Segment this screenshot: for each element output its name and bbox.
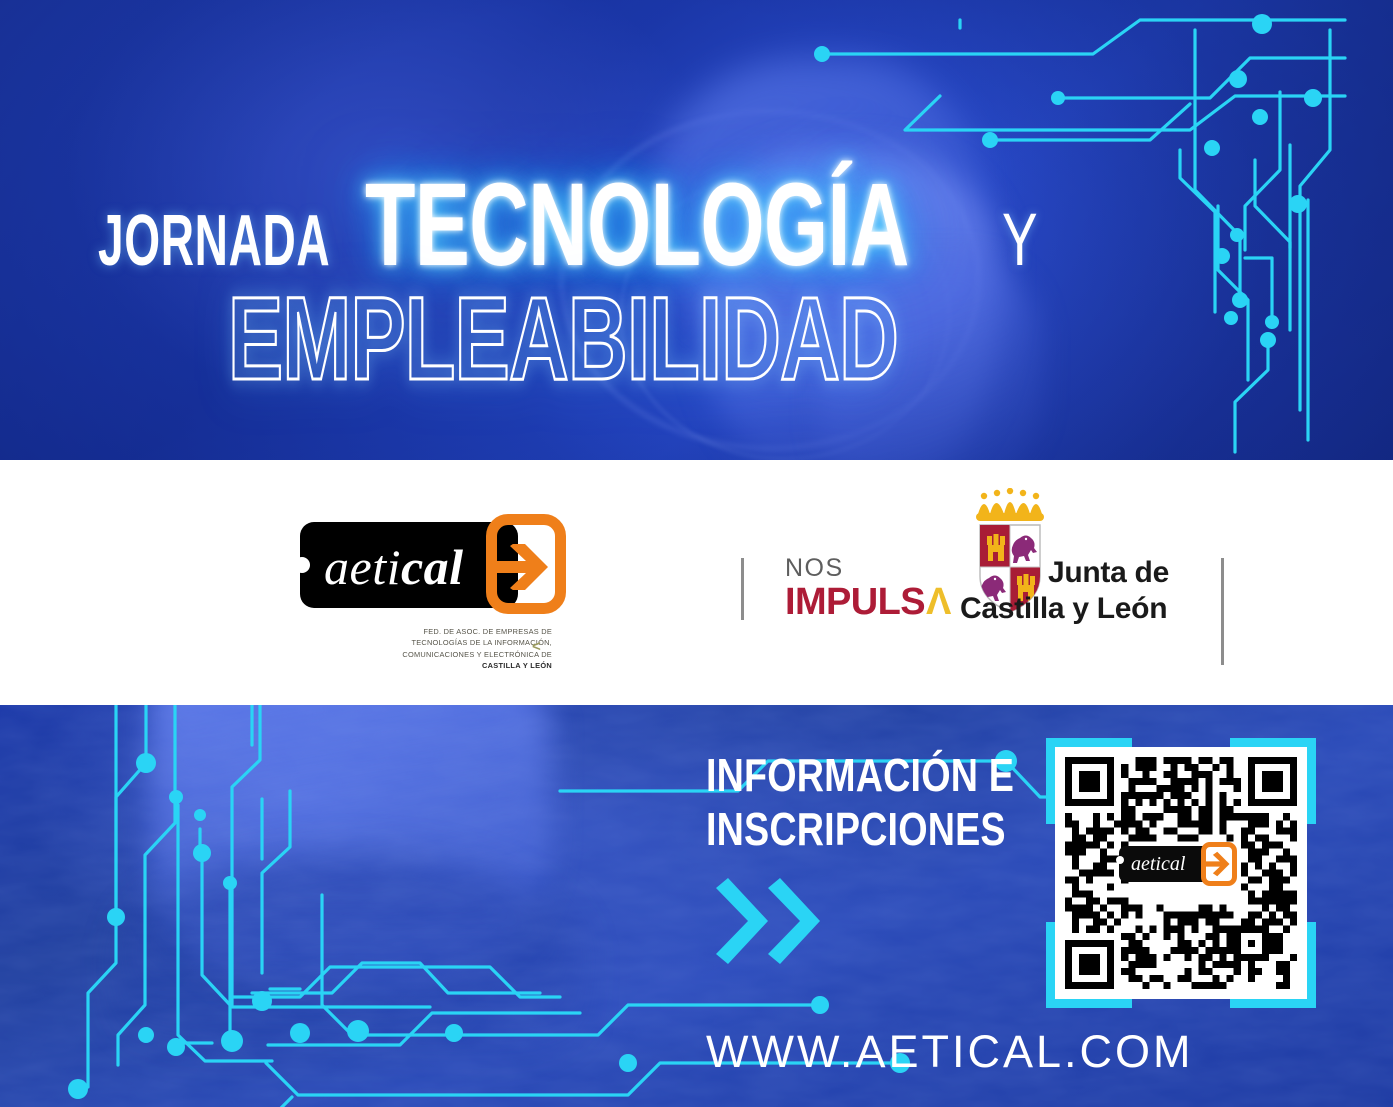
website-url[interactable]: WWW.AETICAL.COM bbox=[706, 1026, 1194, 1078]
aetical-notch bbox=[294, 557, 310, 573]
aetical-tagline-line2: TECNOLOGÍAS DE LA INFORMACIÓN, bbox=[376, 637, 552, 648]
arrow-right-icon bbox=[492, 544, 556, 590]
poster-root: JORNADA TECNOLOGÍA Y EMPLEABILIDAD aetic… bbox=[0, 0, 1393, 1107]
qr-logo-notch bbox=[1116, 856, 1124, 864]
title-line-1: JORNADA TECNOLOGÍA Y bbox=[98, 172, 1051, 278]
qr-logo-arrow-icon bbox=[1205, 851, 1233, 877]
junta-castilla-leon-logo: Junta de Castilla y León bbox=[960, 488, 1210, 658]
aetical-chevron-icon: < bbox=[532, 638, 541, 655]
aetical-logo: aetical FED. DE ASOC. DE EMPRESAS DE TEC… bbox=[300, 522, 565, 682]
divider-left bbox=[741, 558, 744, 620]
aetical-wordmark: aetical bbox=[324, 538, 464, 596]
aetical-tagline-line3: COMUNICACIONES Y ELECTRÓNICA DE bbox=[376, 649, 552, 660]
qr-center-logo: aetical bbox=[1119, 842, 1247, 888]
title-line-2: EMPLEABILIDAD bbox=[228, 286, 1185, 392]
aetical-wordmark-light: aeti bbox=[324, 539, 401, 595]
info-heading: INFORMACIÓN E INSCRIPCIONES bbox=[706, 748, 1014, 857]
aetical-tagline-line1: FED. DE ASOC. DE EMPRESAS DE bbox=[376, 626, 552, 637]
junta-wordmark: Junta de Castilla y León bbox=[1048, 556, 1288, 590]
title-word-jornada: JORNADA bbox=[98, 207, 330, 275]
nos-impulsa-line2: IMPULS bbox=[785, 583, 925, 621]
junta-line1: Junta de bbox=[1048, 556, 1169, 589]
nos-impulsa-line1: NOS bbox=[785, 555, 951, 581]
qr-code-block[interactable]: aetical bbox=[1046, 738, 1316, 1008]
junta-line2: Castilla y León bbox=[960, 592, 1167, 626]
double-chevron-right-icon[interactable] bbox=[712, 878, 822, 964]
nos-impulsa-chevron-a-icon: Λ bbox=[926, 583, 951, 621]
aetical-tagline-line4: CASTILLA Y LEÓN bbox=[376, 660, 552, 671]
nos-impulsa-logo: NOS IMPULS Λ bbox=[785, 555, 951, 621]
title-word-y: Y bbox=[1002, 207, 1038, 274]
title-word-empleabilidad: EMPLEABILIDAD bbox=[228, 286, 898, 392]
aetical-tagline: FED. DE ASOC. DE EMPRESAS DE TECNOLOGÍAS… bbox=[376, 626, 552, 672]
nos-impulsa-line2-row: IMPULS Λ bbox=[785, 583, 951, 621]
title-block: JORNADA TECNOLOGÍA Y EMPLEABILIDAD bbox=[0, 0, 1393, 460]
aetical-wordmark-bold: cal bbox=[401, 539, 464, 595]
qr-logo-wordmark: aetical bbox=[1131, 853, 1185, 876]
sponsor-logo-band: aetical FED. DE ASOC. DE EMPRESAS DE TEC… bbox=[0, 460, 1393, 705]
title-word-tecnologia: TECNOLOGÍA bbox=[365, 172, 909, 278]
